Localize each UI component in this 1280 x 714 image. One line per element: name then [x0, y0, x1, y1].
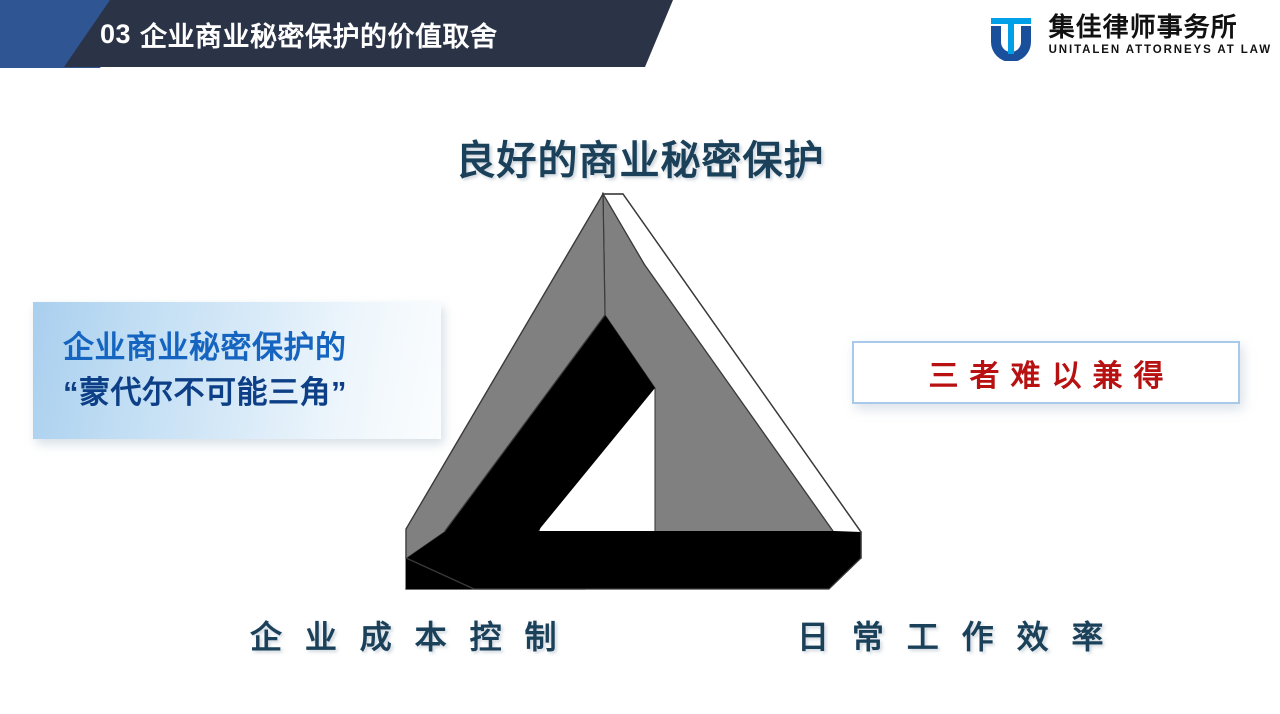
- section-number: 03: [100, 19, 131, 50]
- mundell-triangle-callout: 企业商业秘密保护的 “蒙代尔不可能三角”: [33, 302, 441, 439]
- logo-name-en: UNITALEN ATTORNEYS AT LAW: [1049, 44, 1272, 56]
- mundell-callout-line-1: 企业商业秘密保护的: [63, 326, 441, 370]
- logo-name-cn: 集佳律师事务所: [1049, 14, 1272, 41]
- section-heading: 03 企业商业秘密保护的价值取舍: [100, 12, 498, 56]
- conclusion-callout-box: 三者难以兼得: [852, 341, 1240, 404]
- logo-text-group: 集佳律师事务所 UNITALEN ATTORNEYS AT LAW: [1049, 14, 1272, 56]
- brand-logo: 集佳律师事务所 UNITALEN ATTORNEYS AT LAW: [985, 8, 1272, 62]
- diagram-bottom-right-label: 日 常 工 作 效 率: [790, 612, 1110, 658]
- diagram-top-label: 良好的商业秘密保护: [0, 128, 1280, 186]
- conclusion-text: 三者难以兼得: [918, 351, 1175, 395]
- diagram-bottom-left-label: 企 业 成 本 控 制: [243, 612, 563, 658]
- mundell-callout-line-2: “蒙代尔不可能三角”: [63, 371, 441, 415]
- penrose-impossible-triangle: [398, 186, 876, 590]
- section-title-text: 企业商业秘密保护的价值取舍: [140, 15, 498, 54]
- unitalen-ut-monogram-icon: [985, 9, 1037, 61]
